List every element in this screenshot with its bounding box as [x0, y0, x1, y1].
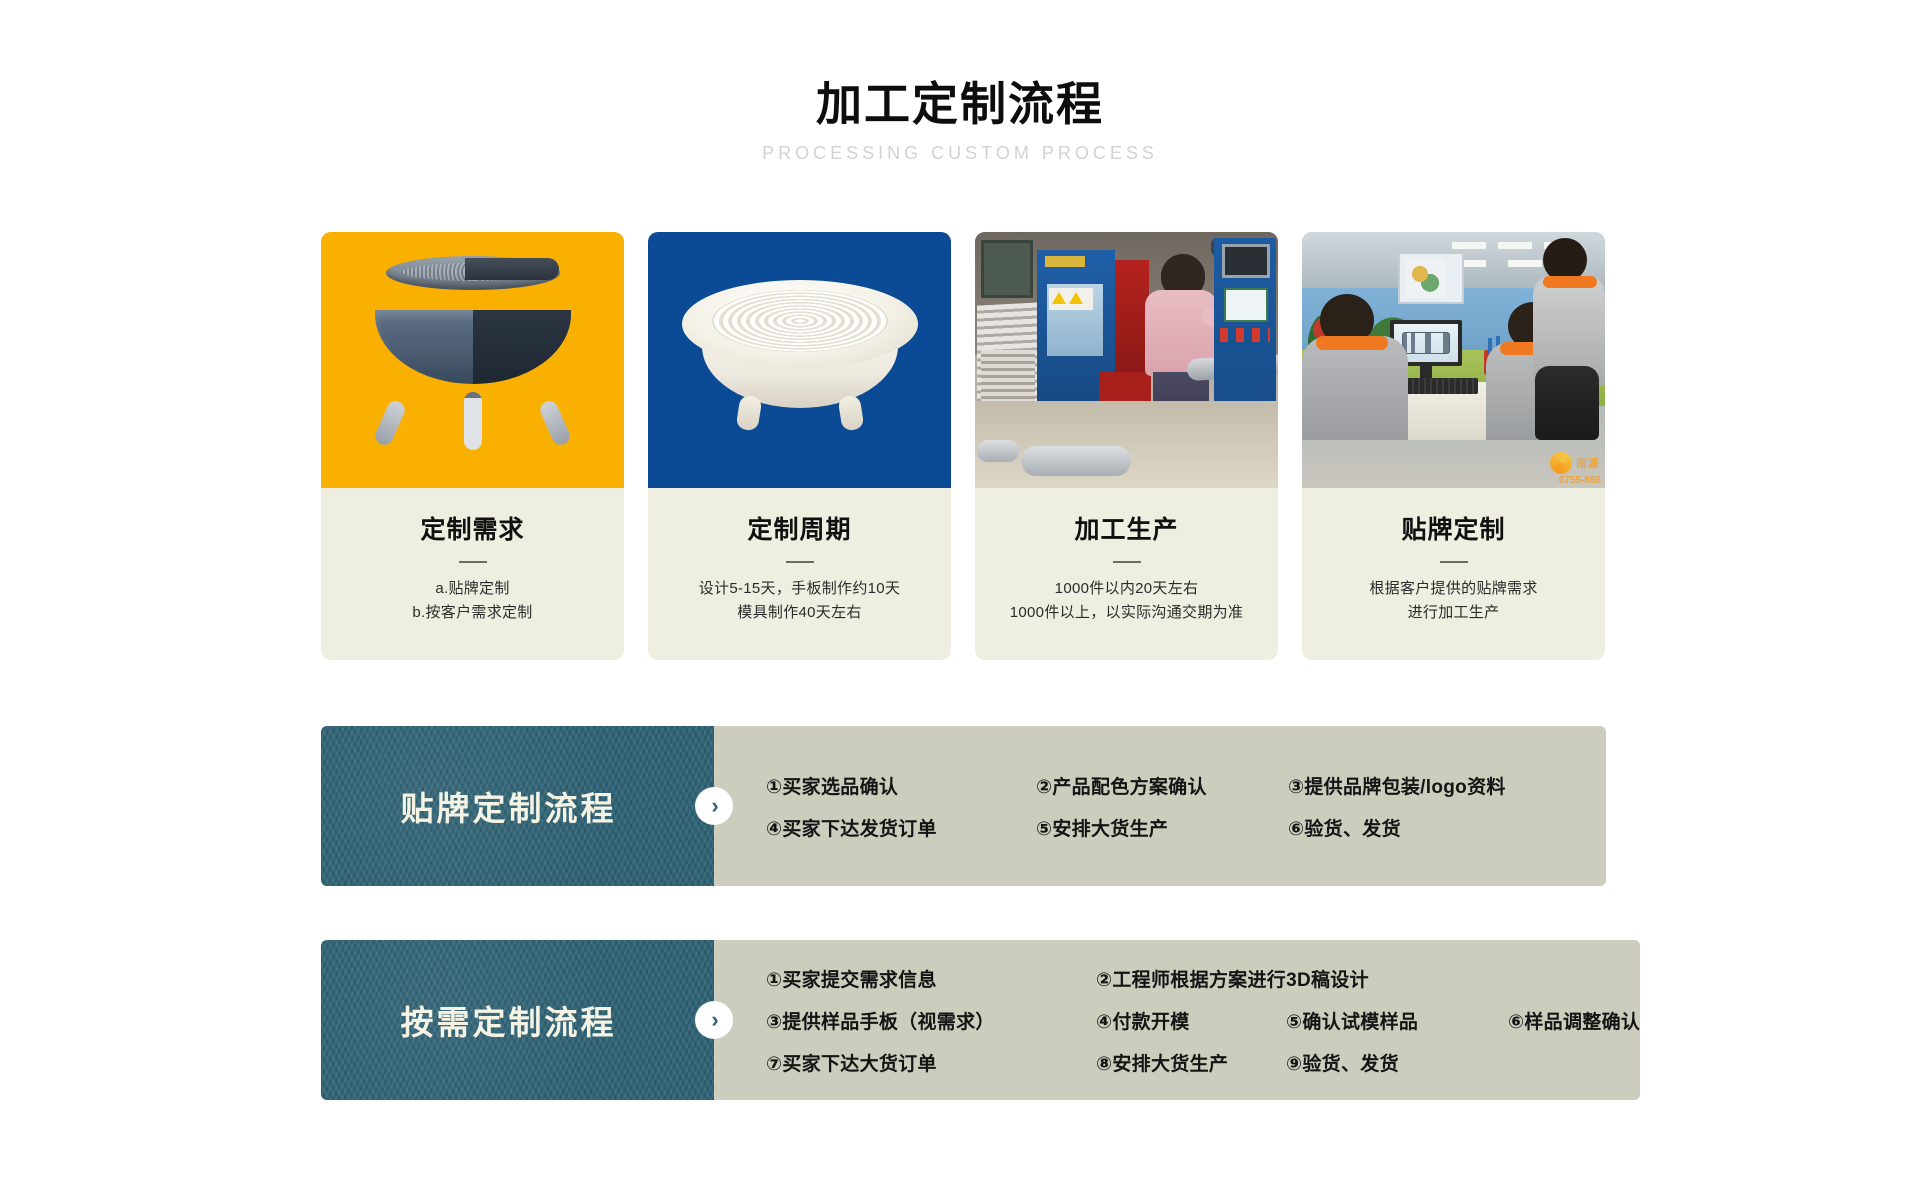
factory-panel-screen-bottom [1224, 288, 1268, 322]
process-card-list: 定制需求 a.贴牌定制 b.按客户需求定制 定制周期 设计5-15 [321, 232, 1606, 660]
card-divider [1440, 561, 1468, 563]
card-body: 贴牌定制 根据客户提供的贴牌需求 进行加工生产 [1302, 488, 1605, 660]
brand-logo-icon [1550, 452, 1572, 474]
brand-watermark-text: 南源 [1576, 455, 1599, 471]
card-divider [1113, 561, 1141, 563]
grill-leg-right [537, 398, 572, 447]
process-flow-bars: 贴牌定制流程 › ①买家选品确认 ②产品配色方案确认 ③提供品牌包装/logo资… [321, 726, 1606, 1154]
card-line: 进行加工生产 [1302, 601, 1605, 625]
process-flow-bar-oem: 贴牌定制流程 › ①买家选品确认 ②产品配色方案确认 ③提供品牌包装/logo资… [321, 726, 1606, 886]
factory-molded-part-secondary [977, 440, 1019, 462]
office-person-right-collar [1543, 276, 1597, 288]
card-body: 定制周期 设计5-15天，手板制作约10天 模具制作40天左右 [648, 488, 951, 660]
ceiling-light [1498, 242, 1532, 249]
card-body: 加工生产 1000件以内20天左右 1000件以上，以实际沟通交期为准 [975, 488, 1278, 660]
process-step: ⑦买家下达大货订单 [766, 1049, 1096, 1076]
process-card-production[interactable]: 加工生产 1000件以内20天左右 1000件以上，以实际沟通交期为准 [975, 232, 1278, 660]
process-step: ②产品配色方案确认 [1036, 772, 1288, 799]
card-image-factory-production [975, 232, 1278, 488]
card-image-office-engineers: 南源 0755-866 [1302, 232, 1605, 488]
bar-label-on-demand: 按需定制流程 › [321, 940, 714, 1100]
process-step: ⑧安排大货生产 [1096, 1049, 1286, 1076]
process-step: ⑤安排大货生产 [1036, 814, 1288, 841]
chevron-right-icon[interactable]: › [695, 787, 733, 825]
card-line: 设计5-15天，手板制作约10天 [648, 577, 951, 601]
factory-molded-part [1021, 446, 1131, 476]
office-chair [1535, 366, 1599, 440]
factory-window [981, 240, 1033, 298]
factory-panel-buttons [1220, 328, 1270, 342]
cad-drawing-on-screen [1402, 332, 1450, 354]
grill-bowl-dark-half [473, 310, 571, 384]
office-person-left-body [1302, 336, 1408, 440]
brand-watermark: 南源 [1550, 452, 1599, 474]
page-subtitle: PROCESSING CUSTOM PROCESS [0, 143, 1920, 164]
grill-leg-center [464, 392, 482, 450]
factory-machine-label [1045, 256, 1085, 267]
prototype-illustration [682, 274, 918, 424]
ceiling-light [1452, 242, 1486, 249]
process-card-oem-custom[interactable]: 南源 0755-866 贴牌定制 根据客户提供的贴牌需求 进行加工生产 [1302, 232, 1605, 660]
office-keyboard [1402, 378, 1478, 394]
card-image-exploded-grill [321, 232, 624, 488]
card-line: 1000件以内20天左右 [975, 577, 1278, 601]
process-step: ②工程师根据方案进行3D稿设计 [1096, 965, 1369, 992]
process-step: ⑥样品调整确认 [1508, 1007, 1640, 1034]
chevron-right-icon[interactable]: › [695, 1001, 733, 1039]
factory-floor [975, 401, 1278, 488]
prototype-foot-right [837, 394, 864, 431]
prototype-spiral-pattern [712, 290, 888, 352]
office-person-left-collar [1316, 336, 1388, 350]
card-divider [459, 561, 487, 563]
card-body: 定制需求 a.贴牌定制 b.按客户需求定制 [321, 488, 624, 660]
step-row: ④买家下达发货订单 ⑤安排大货生产 ⑥验货、发货 [766, 806, 1606, 848]
brand-watermark-phone: 0755-866 [1559, 475, 1601, 486]
process-step: ④买家下达发货订单 [766, 814, 1036, 841]
card-title: 定制周期 [648, 510, 951, 546]
office-wall-poster [1406, 258, 1446, 298]
bar-label-oem: 贴牌定制流程 › [321, 726, 714, 886]
card-line: 根据客户提供的贴牌需求 [1302, 577, 1605, 601]
factory-panel-screen-top [1222, 244, 1270, 278]
step-row: ③提供样品手板（视需求） ④付款开模 ⑤确认试模样品 ⑥样品调整确认 [766, 999, 1640, 1041]
bar-steps-oem: ①买家选品确认 ②产品配色方案确认 ③提供品牌包装/logo资料 ④买家下达发货… [714, 726, 1606, 886]
card-line: 1000件以上，以实际沟通交期为准 [975, 601, 1278, 625]
chevron-right-glyph: › [711, 795, 718, 817]
process-card-custom-requirement[interactable]: 定制需求 a.贴牌定制 b.按客户需求定制 [321, 232, 624, 660]
bar-label-text: 按需定制流程 [401, 996, 635, 1044]
card-line: a.贴牌定制 [321, 577, 624, 601]
custom-process-page: 加工定制流程 PROCESSING CUSTOM PROCESS 定制需求 a.… [0, 0, 1920, 1200]
process-step: ③提供样品手板（视需求） [766, 1007, 1096, 1034]
chevron-right-glyph: › [711, 1009, 718, 1031]
process-card-custom-cycle[interactable]: 定制周期 设计5-15天，手板制作约10天 模具制作40天左右 [648, 232, 951, 660]
card-title: 加工生产 [975, 510, 1278, 546]
card-line: 模具制作40天左右 [648, 601, 951, 625]
process-step: ①买家提交需求信息 [766, 965, 1096, 992]
grill-lid-wedge-shape [465, 258, 559, 280]
process-step: ⑥验货、发货 [1288, 814, 1401, 841]
card-title: 贴牌定制 [1302, 510, 1605, 546]
card-title: 定制需求 [321, 510, 624, 546]
step-row: ①买家提交需求信息 ②工程师根据方案进行3D稿设计 [766, 957, 1640, 999]
card-divider [786, 561, 814, 563]
process-step: ④付款开模 [1096, 1007, 1286, 1034]
page-title: 加工定制流程 [0, 78, 1920, 131]
grill-bowl-shape [375, 310, 571, 384]
card-line: b.按客户需求定制 [321, 601, 624, 625]
page-header: 加工定制流程 PROCESSING CUSTOM PROCESS [0, 78, 1920, 164]
bar-steps-on-demand: ①买家提交需求信息 ②工程师根据方案进行3D稿设计 ③提供样品手板（视需求） ④… [714, 940, 1640, 1100]
process-step: ⑤确认试模样品 [1286, 1007, 1508, 1034]
grill-leg-left [372, 398, 407, 447]
step-row: ⑦买家下达大货订单 ⑧安排大货生产 ⑨验货、发货 [766, 1041, 1640, 1083]
prototype-foot-left [735, 394, 762, 431]
step-row: ①买家选品确认 ②产品配色方案确认 ③提供品牌包装/logo资料 [766, 764, 1606, 806]
process-step: ③提供品牌包装/logo资料 [1288, 772, 1506, 799]
card-image-white-prototype [648, 232, 951, 488]
bar-label-text: 贴牌定制流程 [401, 782, 635, 830]
ceiling-light [1508, 260, 1542, 267]
warning-sign-icon [1049, 288, 1093, 310]
process-flow-bar-on-demand: 按需定制流程 › ①买家提交需求信息 ②工程师根据方案进行3D稿设计 ③提供样品… [321, 940, 1606, 1100]
process-step: ⑨验货、发货 [1286, 1049, 1399, 1076]
process-step: ①买家选品确认 [766, 772, 1036, 799]
